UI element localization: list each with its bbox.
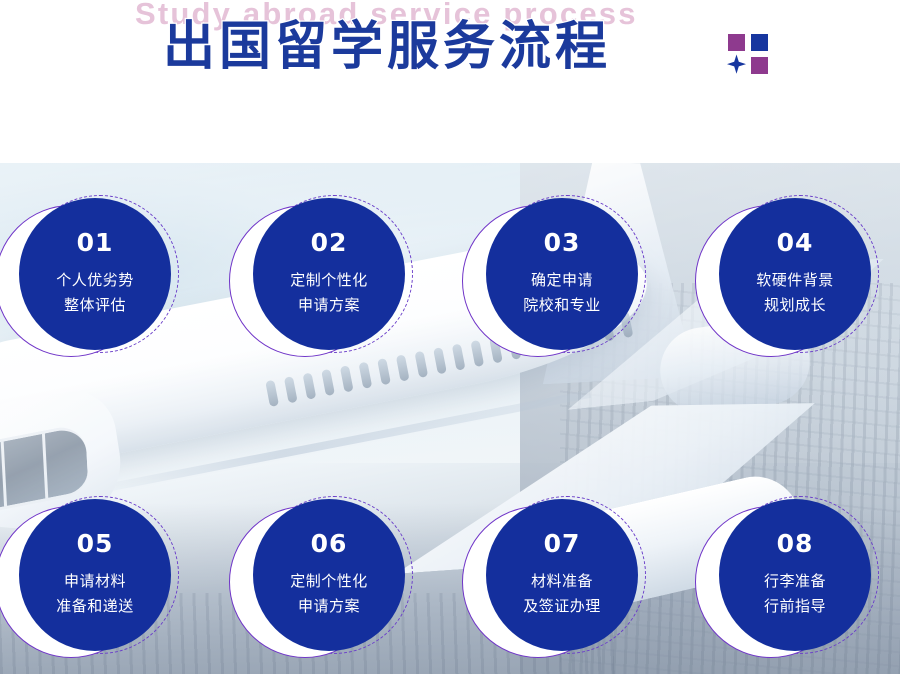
step-label-line1: 定制个性化 — [290, 569, 368, 594]
step-item-01[interactable]: 01 个人优劣势 整体评估 — [0, 204, 187, 352]
step-content: 05 申请材料 准备和递送 — [19, 499, 171, 651]
square-sparkle-mark-icon — [726, 32, 770, 76]
step-number: 08 — [777, 531, 814, 556]
step-label-line1: 定制个性化 — [290, 268, 368, 293]
step-item-07[interactable]: 07 材料准备 及签证办理 — [462, 505, 654, 653]
step-label-line1: 材料准备 — [531, 569, 593, 594]
step-label-line1: 申请材料 — [64, 569, 126, 594]
step-number: 05 — [77, 531, 114, 556]
step-item-08[interactable]: 08 行李准备 行前指导 — [695, 505, 887, 653]
step-number: 06 — [311, 531, 348, 556]
step-content: 07 材料准备 及签证办理 — [486, 499, 638, 651]
step-item-02[interactable]: 02 定制个性化 申请方案 — [229, 204, 421, 352]
step-label-line1: 软硬件背景 — [756, 268, 834, 293]
step-item-06[interactable]: 06 定制个性化 申请方案 — [229, 505, 421, 653]
step-label-line2: 准备和递送 — [56, 594, 134, 619]
step-item-04[interactable]: 04 软硬件背景 规划成长 — [695, 204, 887, 352]
step-label-line2: 申请方案 — [298, 293, 360, 318]
page-title: 出国留学服务流程 — [163, 18, 611, 76]
step-number: 01 — [77, 230, 114, 255]
step-content: 04 软硬件背景 规划成长 — [719, 198, 871, 350]
step-label-line2: 规划成长 — [764, 293, 826, 318]
step-number: 04 — [777, 230, 814, 255]
step-label-line2: 整体评估 — [64, 293, 126, 318]
step-content: 03 确定申请 院校和专业 — [486, 198, 638, 350]
step-label-line1: 行李准备 — [764, 569, 826, 594]
step-label-line1: 确定申请 — [531, 268, 593, 293]
header-title-block: Study abroad service process 出国留学服务流程 — [0, 0, 900, 100]
step-label-line2: 院校和专业 — [523, 293, 601, 318]
step-number: 07 — [544, 531, 581, 556]
step-label-line2: 申请方案 — [298, 594, 360, 619]
page-header: Study abroad service process 出国留学服务流程 — [0, 0, 900, 163]
step-label-line1: 个人优劣势 — [56, 268, 134, 293]
step-number: 02 — [311, 230, 348, 255]
step-label-line2: 及签证办理 — [523, 594, 601, 619]
step-content: 08 行李准备 行前指导 — [719, 499, 871, 651]
step-content: 02 定制个性化 申请方案 — [253, 198, 405, 350]
step-label-line2: 行前指导 — [764, 594, 826, 619]
step-content: 06 定制个性化 申请方案 — [253, 499, 405, 651]
step-item-03[interactable]: 03 确定申请 院校和专业 — [462, 204, 654, 352]
step-number: 03 — [544, 230, 581, 255]
step-content: 01 个人优劣势 整体评估 — [19, 198, 171, 350]
step-item-05[interactable]: 05 申请材料 准备和递送 — [0, 505, 187, 653]
